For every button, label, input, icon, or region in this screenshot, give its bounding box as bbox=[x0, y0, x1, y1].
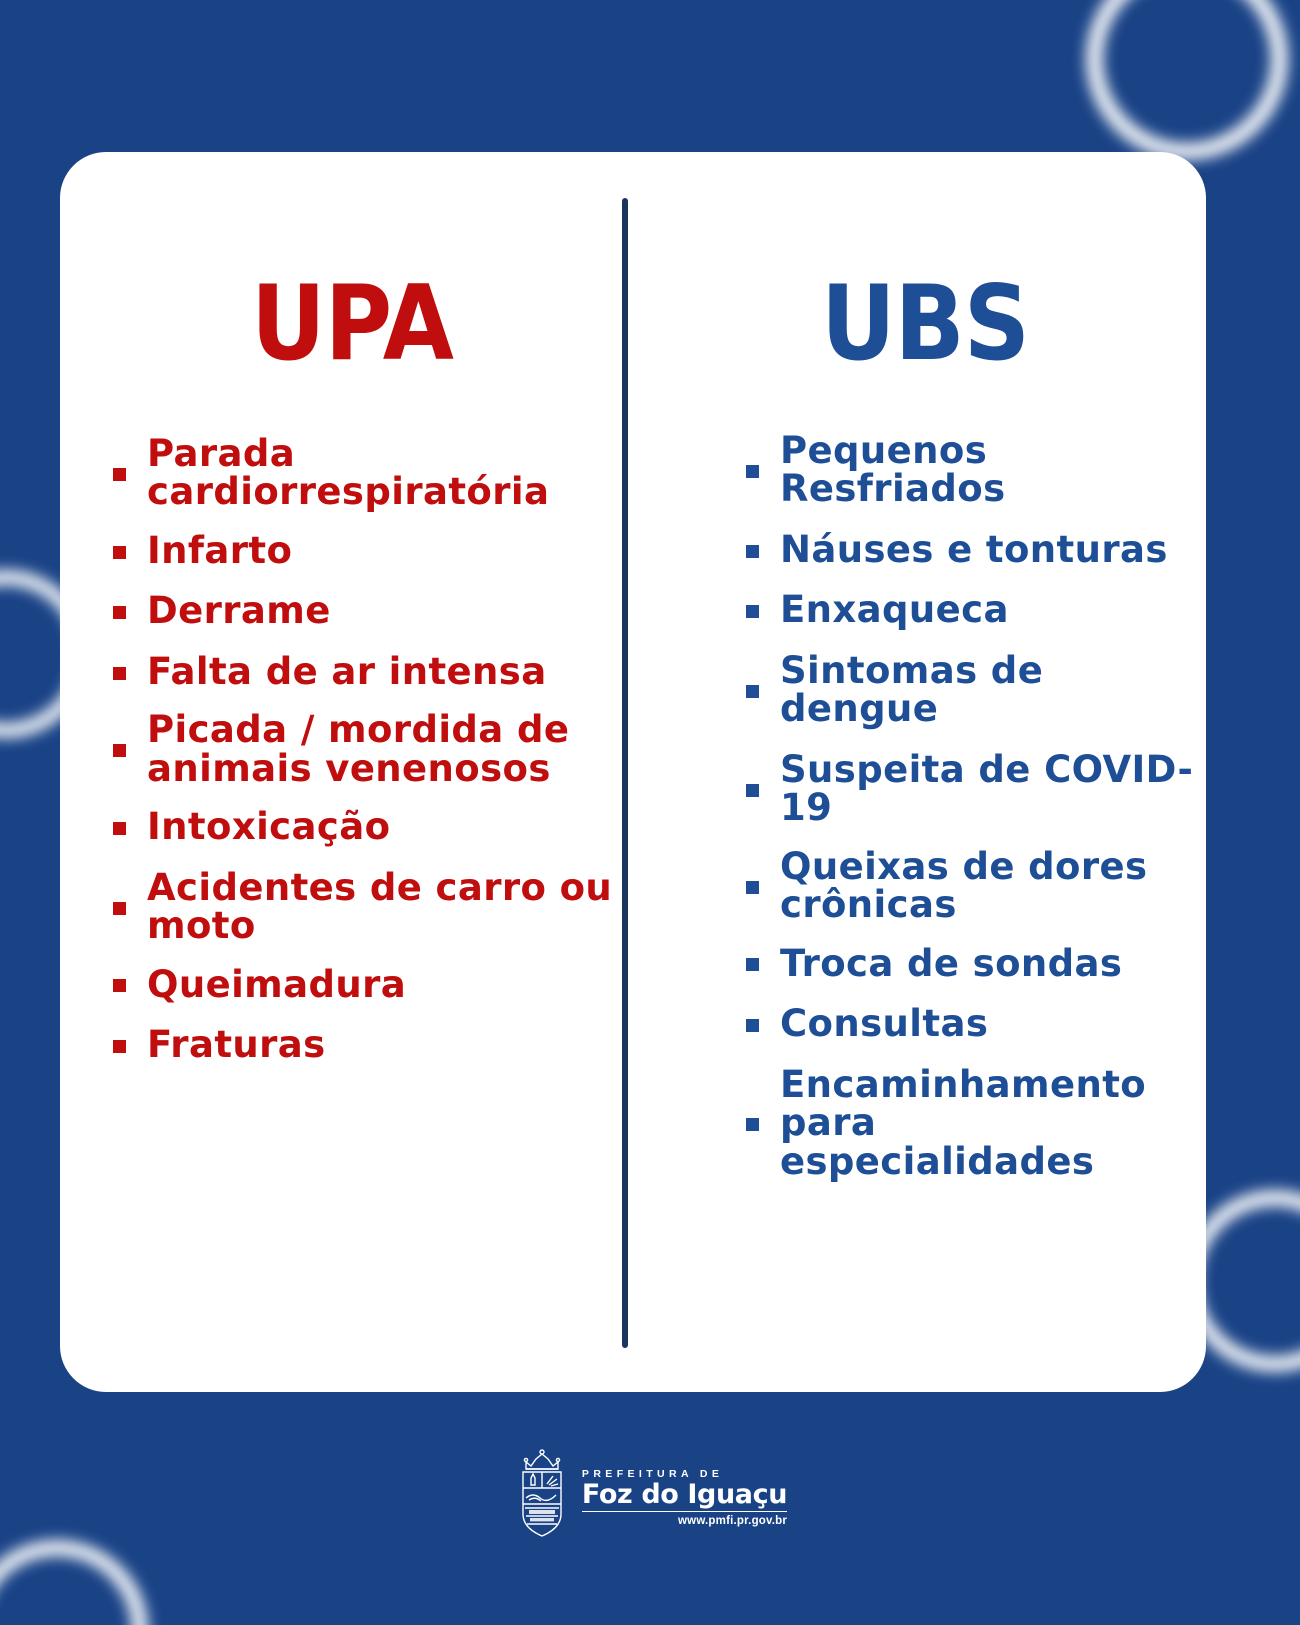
list-item-label: Encaminhamento para especialidades bbox=[780, 1066, 1200, 1181]
decorative-ring-top-right bbox=[1086, 0, 1288, 160]
list-item: Falta de ar intensa bbox=[113, 653, 616, 691]
list-item: Fraturas bbox=[113, 1026, 616, 1064]
decorative-ring-bottom-left bbox=[0, 1540, 148, 1625]
comparison-card: UPA Parada cardiorrespiratória Infarto D… bbox=[60, 152, 1206, 1392]
square-bullet-icon bbox=[746, 465, 759, 478]
square-bullet-icon bbox=[746, 881, 759, 894]
square-bullet-icon bbox=[113, 1040, 126, 1053]
column-upa: UPA Parada cardiorrespiratória Infarto D… bbox=[60, 152, 622, 1392]
list-upa: Parada cardiorrespiratória Infarto Derra… bbox=[60, 435, 622, 1065]
list-item: Picada / mordida de animais venenosos bbox=[113, 711, 616, 788]
list-item-label: Picada / mordida de animais venenosos bbox=[147, 711, 616, 788]
square-bullet-icon bbox=[746, 1118, 759, 1131]
column-title-upa: UPA bbox=[60, 152, 622, 376]
list-item: Acidentes de carro ou moto bbox=[113, 869, 616, 946]
list-item-label: Troca de sondas bbox=[780, 945, 1122, 983]
column-ubs: UBS Pequenos Resfriados Náuses e tontura… bbox=[628, 152, 1206, 1392]
list-item-label: Acidentes de carro ou moto bbox=[147, 869, 616, 946]
column-title-ubs: UBS bbox=[628, 152, 1206, 376]
list-item-label: Intoxicação bbox=[147, 808, 390, 846]
list-item-label: Queixas de dores crônicas bbox=[780, 848, 1200, 925]
square-bullet-icon bbox=[746, 784, 759, 797]
square-bullet-icon bbox=[113, 667, 126, 680]
list-item: Suspeita de COVID-19 bbox=[746, 751, 1200, 828]
square-bullet-icon bbox=[746, 605, 759, 618]
list-item: Intoxicação bbox=[113, 808, 616, 846]
list-item-label: Derrame bbox=[147, 592, 331, 630]
coat-of-arms-icon bbox=[513, 1448, 571, 1540]
list-item: Derrame bbox=[113, 592, 616, 630]
list-item: Parada cardiorrespiratória bbox=[113, 435, 616, 512]
list-item-label: Sintomas de dengue bbox=[780, 652, 1200, 729]
list-item-label: Queimadura bbox=[147, 966, 406, 1004]
list-item-label: Enxaqueca bbox=[780, 591, 1009, 629]
list-item: Consultas bbox=[746, 1005, 1200, 1043]
list-item-label: Consultas bbox=[780, 1005, 988, 1043]
square-bullet-icon bbox=[113, 468, 126, 481]
list-item-label: Náuses e tonturas bbox=[780, 531, 1168, 569]
city-name: Foz do Iguaçu bbox=[582, 1481, 787, 1512]
square-bullet-icon bbox=[113, 744, 126, 757]
prefeitura-logo: PREFEITURA DE Foz do Iguaçu www.pmfi.pr.… bbox=[513, 1448, 787, 1540]
square-bullet-icon bbox=[746, 545, 759, 558]
list-item: Infarto bbox=[113, 532, 616, 570]
list-item: Encaminhamento para especialidades bbox=[746, 1066, 1200, 1181]
footer: PREFEITURA DE Foz do Iguaçu www.pmfi.pr.… bbox=[0, 1448, 1300, 1540]
list-ubs: Pequenos Resfriados Náuses e tonturas En… bbox=[628, 432, 1206, 1181]
list-item-label: Fraturas bbox=[147, 1026, 326, 1064]
square-bullet-icon bbox=[113, 902, 126, 915]
list-item: Pequenos Resfriados bbox=[746, 432, 1200, 509]
poster-canvas: UPA Parada cardiorrespiratória Infarto D… bbox=[0, 0, 1300, 1625]
list-item-label: Infarto bbox=[147, 532, 292, 570]
square-bullet-icon bbox=[746, 685, 759, 698]
list-item: Náuses e tonturas bbox=[746, 531, 1200, 569]
list-item-label: Parada cardiorrespiratória bbox=[147, 435, 616, 512]
list-item: Troca de sondas bbox=[746, 945, 1200, 983]
square-bullet-icon bbox=[113, 822, 126, 835]
list-item: Sintomas de dengue bbox=[746, 652, 1200, 729]
prefeitura-label: PREFEITURA DE bbox=[582, 1468, 787, 1480]
square-bullet-icon bbox=[746, 958, 759, 971]
square-bullet-icon bbox=[113, 546, 126, 559]
list-item-label: Falta de ar intensa bbox=[147, 653, 547, 691]
square-bullet-icon bbox=[746, 1019, 759, 1032]
square-bullet-icon bbox=[113, 979, 126, 992]
list-item: Queixas de dores crônicas bbox=[746, 848, 1200, 925]
square-bullet-icon bbox=[113, 606, 126, 619]
list-item: Queimadura bbox=[113, 966, 616, 1004]
list-item: Enxaqueca bbox=[746, 591, 1200, 629]
list-item-label: Suspeita de COVID-19 bbox=[780, 751, 1200, 828]
logo-text-block: PREFEITURA DE Foz do Iguaçu www.pmfi.pr.… bbox=[582, 1462, 787, 1527]
list-item-label: Pequenos Resfriados bbox=[780, 432, 1200, 509]
website-url[interactable]: www.pmfi.pr.gov.br bbox=[582, 1515, 787, 1527]
